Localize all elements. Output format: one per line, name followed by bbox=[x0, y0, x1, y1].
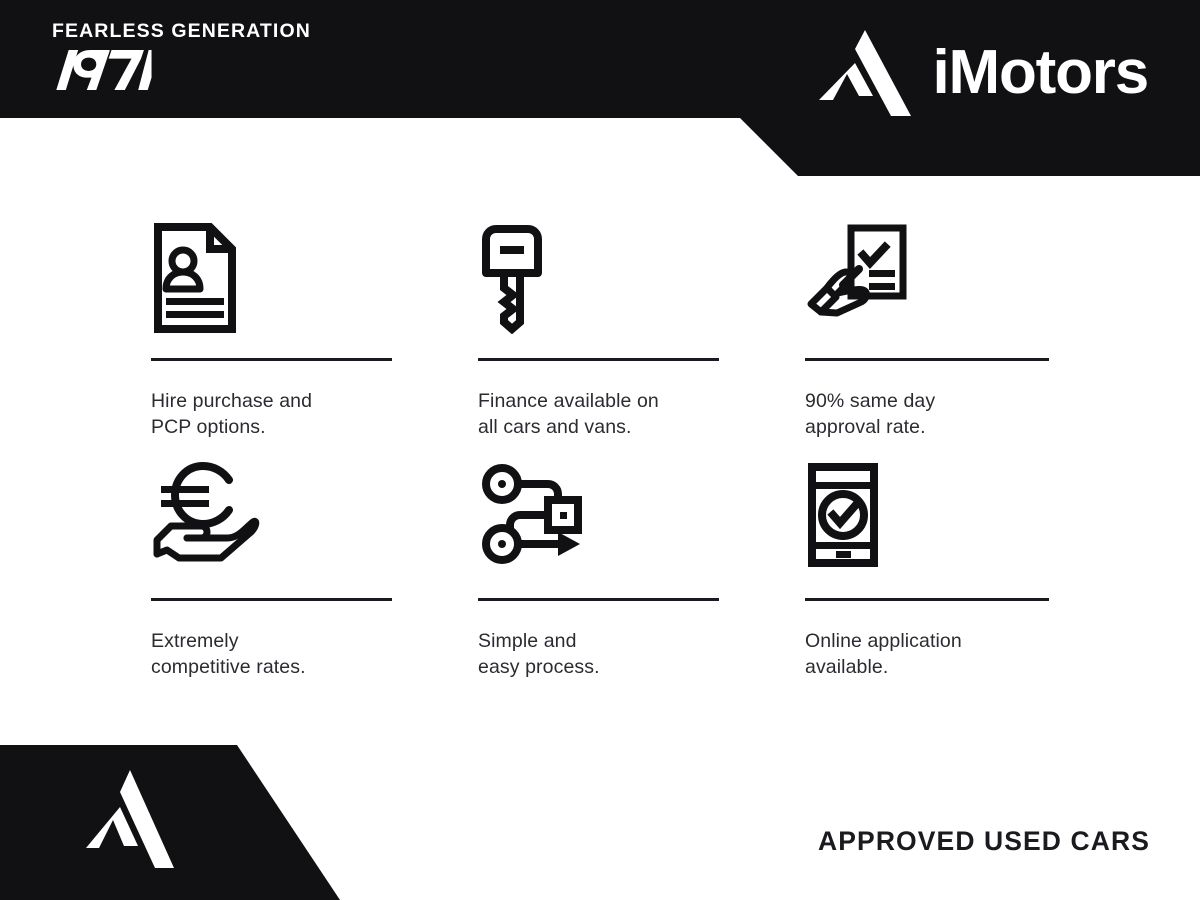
feature-label: Hire purchase and PCP options. bbox=[151, 389, 392, 440]
brand-name: iMotors bbox=[933, 42, 1148, 104]
feature-item: 90% same day approval rate. bbox=[805, 222, 1049, 440]
feature-icon-wrapper bbox=[151, 222, 392, 340]
feature-label: 90% same day approval rate. bbox=[805, 389, 1049, 440]
grid-gutter bbox=[719, 462, 805, 680]
year-1971-mark bbox=[52, 50, 152, 90]
grid-gutter bbox=[392, 462, 478, 680]
grid-gutter bbox=[719, 222, 805, 440]
feature-divider bbox=[151, 598, 392, 601]
promo-banner: FEARLESS GENERATION iMotors bbox=[0, 0, 1200, 900]
feature-icon-wrapper bbox=[805, 462, 1049, 580]
document-person-icon bbox=[153, 222, 237, 334]
fearless-generation-tagline: FEARLESS GENERATION bbox=[52, 22, 311, 42]
feature-icon-wrapper bbox=[151, 462, 392, 580]
feature-divider bbox=[805, 598, 1049, 601]
feature-grid: Hire purchase and PCP options. Finance a… bbox=[151, 222, 1049, 681]
feature-item: Online application available. bbox=[805, 462, 1049, 680]
hand-holding-approved-checklist-icon bbox=[807, 222, 907, 332]
feature-label: Online application available. bbox=[805, 629, 1049, 680]
feature-divider bbox=[478, 598, 719, 601]
fearless-generation-lockup: FEARLESS GENERATION bbox=[52, 22, 311, 95]
feature-icon-wrapper bbox=[478, 222, 719, 340]
feature-icon-wrapper bbox=[478, 462, 719, 580]
grid-gutter bbox=[392, 222, 478, 440]
brand-lockup: iMotors bbox=[819, 30, 1148, 116]
feature-divider bbox=[151, 358, 392, 361]
feature-item: Extremely competitive rates. bbox=[151, 462, 392, 680]
imotors-chevron-logo-icon bbox=[86, 770, 174, 868]
smartphone-check-icon bbox=[807, 462, 879, 568]
feature-divider bbox=[478, 358, 719, 361]
euro-in-hand-icon bbox=[153, 462, 261, 570]
feature-label: Finance available on all cars and vans. bbox=[478, 389, 719, 440]
feature-item: Hire purchase and PCP options. bbox=[151, 222, 392, 440]
feature-icon-wrapper bbox=[805, 222, 1049, 340]
feature-divider bbox=[805, 358, 1049, 361]
imotors-chevron-logo-icon bbox=[819, 30, 911, 116]
feature-item: Simple and easy process. bbox=[478, 462, 719, 680]
feature-item: Finance available on all cars and vans. bbox=[478, 222, 719, 440]
process-flow-icon bbox=[480, 462, 584, 566]
footer-tagline: APPROVED USED CARS bbox=[818, 826, 1150, 857]
car-key-icon bbox=[480, 222, 544, 334]
feature-label: Extremely competitive rates. bbox=[151, 629, 392, 680]
feature-label: Simple and easy process. bbox=[478, 629, 719, 680]
